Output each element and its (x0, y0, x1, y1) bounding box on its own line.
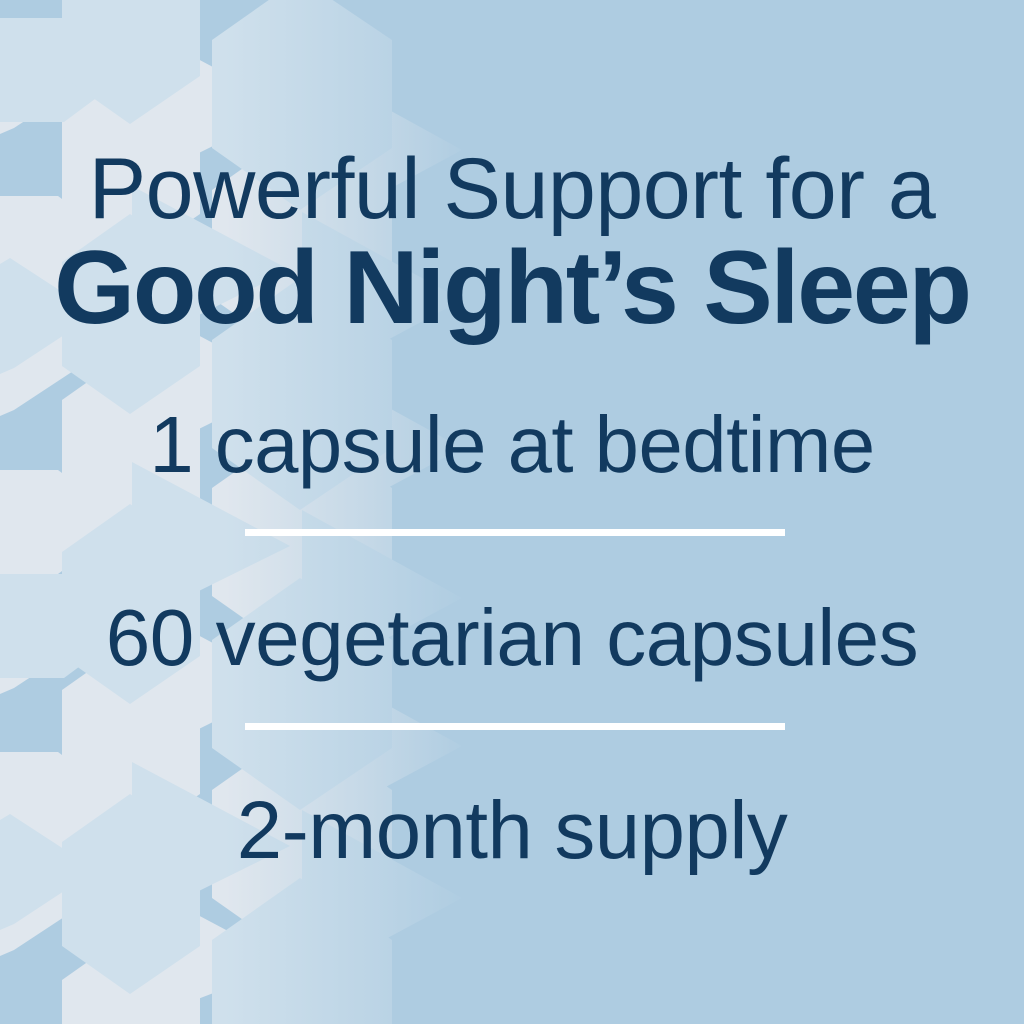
benefit-item-count: 60 vegetarian capsules (0, 598, 1024, 678)
divider-1 (245, 529, 785, 536)
panel-content: Powerful Support for a Good Night’s Slee… (0, 0, 1024, 1024)
headline-line-2: Good Night’s Sleep (0, 236, 1024, 340)
product-benefit-panel: Powerful Support for a Good Night’s Slee… (0, 0, 1024, 1024)
benefit-item-dosage: 1 capsule at bedtime (0, 405, 1024, 485)
headline-line-1: Powerful Support for a (0, 146, 1024, 232)
benefit-item-supply: 2-month supply (0, 790, 1024, 872)
divider-2 (245, 723, 785, 730)
